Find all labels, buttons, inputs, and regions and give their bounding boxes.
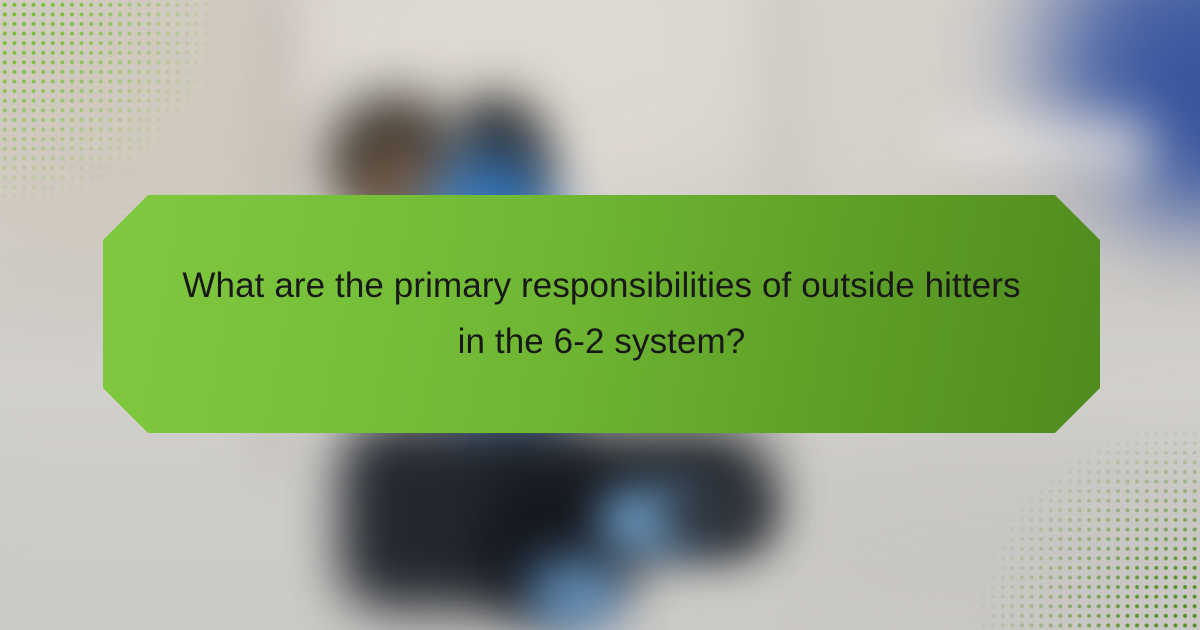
background-subject-sock-secondary xyxy=(530,560,620,630)
question-text: What are the primary responsibilities of… xyxy=(172,258,1032,370)
promo-card: What are the primary responsibilities of… xyxy=(0,0,1200,630)
background-subject-shoe xyxy=(660,480,770,550)
background-shelf xyxy=(940,120,1150,180)
question-banner: What are the primary responsibilities of… xyxy=(103,195,1100,433)
